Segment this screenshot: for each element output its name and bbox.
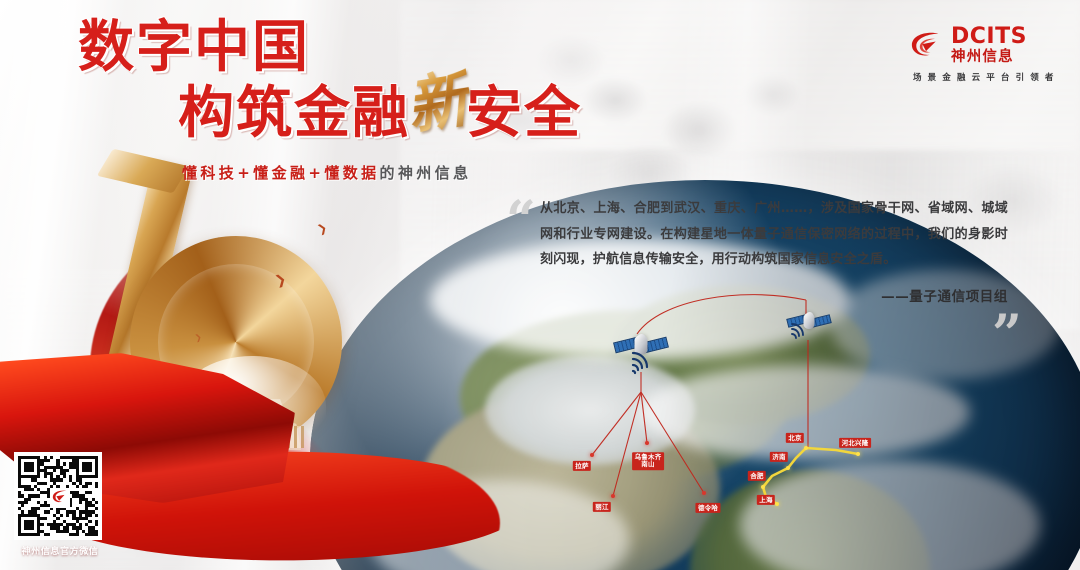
- station-label: 拉萨: [573, 461, 591, 471]
- station-dot: [702, 491, 706, 495]
- station-label: 乌鲁木齐 南山: [632, 452, 664, 470]
- subtitle-data: 懂数据: [324, 164, 379, 182]
- dcits-swoosh-icon: [908, 30, 944, 60]
- subtitle-finance: 懂金融: [253, 164, 308, 182]
- station-dot: [761, 485, 765, 489]
- poster-subtitle: 懂科技+懂金融+懂数据的神州信息: [182, 162, 472, 183]
- logo-name-en: DCITS: [951, 26, 1027, 48]
- station-dot: [786, 466, 790, 470]
- station-dot: [856, 452, 860, 456]
- quote-text: 从北京、上海、合肥到武汉、重庆、广州……，涉及国家骨干网、省域网、城域网和行业专…: [540, 196, 1008, 273]
- quote-close-mark: ”: [992, 304, 1022, 365]
- station-dot: [645, 441, 649, 445]
- dcits-swoosh-icon: [51, 489, 69, 507]
- quote-attribution: ——量子通信项目组: [540, 285, 1008, 305]
- wechat-qr-block[interactable]: 神州信息官方微信: [14, 452, 106, 557]
- station-label: 上海: [757, 495, 775, 505]
- title-line-2: 构筑金融新安全: [178, 78, 582, 147]
- banner-poster: 拉萨乌鲁木齐 南山丽江德令哈北京河北兴隆济南合肥上海 ❯ ❯ ❯ 数字中国 构筑…: [0, 0, 1080, 570]
- title-line-1: 数字中国: [78, 18, 582, 78]
- logo-tagline: 场 景 金 融 云 平 台 引 领 者: [908, 71, 1060, 83]
- qr-code[interactable]: [14, 452, 102, 540]
- subtitle-tech: 懂科技: [182, 164, 237, 182]
- station-label: 丽江: [593, 502, 611, 512]
- title-line-2-part-a: 构筑金融: [178, 81, 410, 146]
- signal-waves-icon: [630, 350, 664, 378]
- subtitle-plus: +: [308, 164, 324, 182]
- subtitle-company: 的神州信息: [380, 164, 472, 182]
- satellite-dish: [635, 333, 646, 344]
- qr-caption: 神州信息官方微信: [14, 544, 106, 557]
- station-dot: [775, 502, 779, 506]
- poster-title: 数字中国 构筑金融新安全: [78, 18, 582, 147]
- dcits-logo[interactable]: DCITS 神州信息 场 景 金 融 云 平 台 引 领 者: [908, 26, 1060, 83]
- station-dot: [590, 453, 594, 457]
- title-line-2-part-b: 安全: [466, 81, 582, 146]
- quote-open-mark: “: [506, 190, 536, 251]
- station-label: 济南: [770, 452, 788, 462]
- station-label: 北京: [786, 433, 804, 443]
- station-dot: [804, 446, 808, 450]
- anniversary-emblem: ❯ ❯ ❯: [100, 158, 400, 458]
- quote-block: “ 从北京、上海、合肥到武汉、重庆、广州……，涉及国家骨干网、省域网、城域网和行…: [540, 196, 1008, 305]
- subtitle-plus: +: [237, 164, 253, 182]
- station-label: 河北兴隆: [839, 438, 871, 448]
- title-highlight-new: 新: [402, 65, 476, 140]
- station-dot: [611, 494, 615, 498]
- station-label: 合肥: [748, 471, 766, 481]
- signal-waves-icon: [790, 322, 816, 344]
- qr-center-logo: [50, 488, 70, 508]
- satellite-dish: [804, 311, 814, 321]
- logo-name-cn: 神州信息: [951, 50, 1027, 65]
- station-label: 德令哈: [695, 503, 720, 513]
